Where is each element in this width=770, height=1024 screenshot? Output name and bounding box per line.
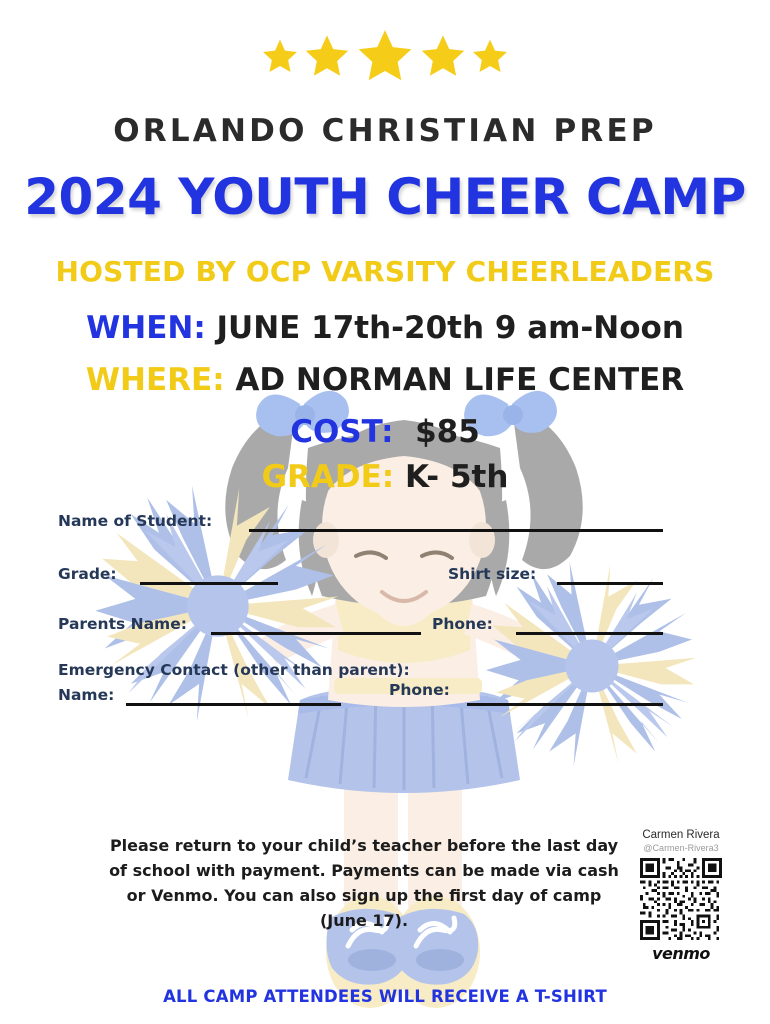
emergency-contact-label: Emergency Contact (other than parent): (58, 661, 410, 679)
detail-when-label: WHEN: (86, 310, 206, 346)
emergency-name-input[interactable] (126, 703, 341, 706)
venmo-payment-card[interactable]: Carmen Rivera @Carmen-Rivera3 (620, 822, 742, 979)
tshirt-notice: ALL CAMP ATTENDEES WILL RECEIVE A T-SHIR… (0, 987, 770, 1006)
shirt-size-input[interactable] (557, 582, 663, 585)
grade-label: Grade: (58, 565, 117, 583)
parent-phone-input[interactable] (516, 632, 663, 635)
detail-cost: COST: $85 (0, 414, 770, 450)
detail-grade-label: GRADE: (262, 459, 395, 495)
venmo-account-name: Carmen Rivera (642, 828, 719, 842)
emergency-name-label: Name: (58, 686, 114, 704)
parents-name-input[interactable] (211, 632, 421, 635)
shirt-size-label: Shirt size: (448, 565, 536, 583)
emergency-phone-input[interactable] (467, 703, 663, 706)
detail-where-label: WHERE: (86, 362, 225, 398)
student-name-label: Name of Student: (58, 512, 212, 530)
star-icon (260, 37, 300, 77)
five-star-rating (0, 27, 770, 87)
payment-instructions: Please return to your child’s teacher be… (106, 833, 622, 933)
student-name-input[interactable] (249, 529, 663, 532)
star-icon (354, 26, 416, 88)
detail-cost-label: COST: (290, 414, 393, 450)
parent-phone-label: Phone: (432, 615, 493, 633)
cheer-camp-flyer: ORLANDO CHRISTIAN PREP 2024 YOUTH CHEER … (0, 0, 770, 1024)
parents-name-label: Parents Name: (58, 615, 187, 633)
detail-when-value: JUNE 17th-20th 9 am-Noon (217, 310, 684, 346)
detail-where-value: AD NORMAN LIFE CENTER (235, 362, 684, 398)
emergency-phone-label: Phone: (389, 681, 450, 699)
star-icon (470, 37, 510, 77)
star-icon (418, 32, 468, 82)
detail-when: WHEN: JUNE 17th-20th 9 am-Noon (0, 310, 770, 346)
registration-form: Name of Student: Grade: Shirt size: Pare… (0, 500, 770, 715)
hosted-by-subtitle: HOSTED BY OCP VARSITY CHEERLEADERS (0, 255, 770, 288)
venmo-account-handle: @Carmen-Rivera3 (643, 842, 718, 855)
detail-cost-value: $85 (415, 414, 480, 450)
star-icon (302, 32, 352, 82)
venmo-qr-code[interactable] (640, 858, 722, 940)
detail-grade: GRADE: K- 5th (0, 459, 770, 495)
venmo-logo: venmo (652, 944, 710, 963)
page-title: 2024 YOUTH CHEER CAMP (0, 168, 770, 226)
grade-input[interactable] (140, 582, 278, 585)
detail-grade-value: K- 5th (405, 459, 508, 495)
school-name: ORLANDO CHRISTIAN PREP (0, 113, 770, 149)
detail-where: WHERE: AD NORMAN LIFE CENTER (0, 362, 770, 398)
